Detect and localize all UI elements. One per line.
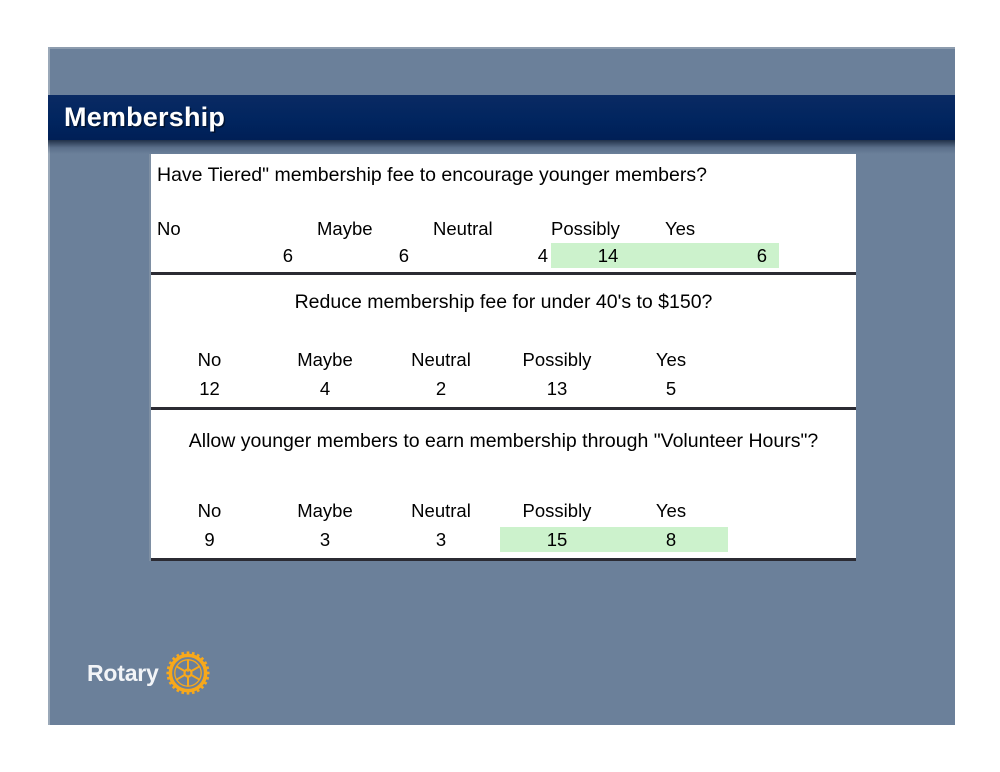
value-maybe: 4 <box>268 376 382 401</box>
value-possibly: 13 <box>500 376 614 401</box>
column-header-yes: Yes <box>665 216 779 241</box>
value-possibly: 14 <box>551 243 665 268</box>
column-header-possibly: Possibly <box>551 216 665 241</box>
survey-results-table: Have Tiered" membership fee to encourage… <box>149 154 856 561</box>
rotary-wheel-icon <box>166 651 210 695</box>
slide-top-edge <box>48 47 955 49</box>
survey-question: Allow younger members to earn membership… <box>151 428 856 488</box>
value-neutral: 4 <box>433 243 551 268</box>
presentation-slide: Membership Have Tiered" membership fee t… <box>48 47 955 725</box>
survey-question: Have Tiered" membership fee to encourage… <box>151 162 856 200</box>
rotary-logo: Rotary <box>87 650 210 696</box>
column-header-possibly: Possibly <box>500 347 614 372</box>
spacer-cell <box>207 216 317 241</box>
column-header-yes: Yes <box>614 347 728 372</box>
column-header-neutral: Neutral <box>382 498 500 523</box>
survey-value-row: 9 3 3 15 8 <box>151 523 856 558</box>
spacer-cell <box>779 243 858 268</box>
spacer-cell <box>728 527 858 552</box>
column-header-maybe: Maybe <box>268 347 382 372</box>
spacer-cell <box>728 498 858 523</box>
spacer-cell <box>728 376 858 401</box>
column-header-no: No <box>151 216 207 241</box>
value-no: 9 <box>151 527 268 552</box>
value-yes: 6 <box>665 243 779 268</box>
value-no: 12 <box>151 376 268 401</box>
survey-value-row: 6 6 4 14 6 <box>151 241 856 272</box>
spacer-cell <box>779 216 858 241</box>
column-header-yes: Yes <box>614 498 728 523</box>
spacer-cell <box>728 347 858 372</box>
page-title: Membership <box>64 102 225 133</box>
column-header-possibly: Possibly <box>500 498 614 523</box>
survey-value-row: 12 4 2 13 5 <box>151 372 856 407</box>
column-header-neutral: Neutral <box>382 347 500 372</box>
value-no: 6 <box>207 243 317 268</box>
value-yes: 5 <box>614 376 728 401</box>
rotary-wordmark: Rotary <box>87 660 159 687</box>
survey-section: Allow younger members to earn membership… <box>151 410 856 558</box>
value-yes: 8 <box>614 527 728 552</box>
column-header-maybe: Maybe <box>317 216 433 241</box>
survey-header-row: No Maybe Neutral Possibly Yes <box>151 200 856 241</box>
value-maybe: 3 <box>268 527 382 552</box>
survey-section: Reduce membership fee for under 40's to … <box>151 275 856 407</box>
column-header-no: No <box>151 498 268 523</box>
spacer-cell <box>151 243 207 268</box>
value-neutral: 3 <box>382 527 500 552</box>
slide-title-bar: Membership <box>48 95 955 140</box>
survey-question: Reduce membership fee for under 40's to … <box>151 289 856 341</box>
value-neutral: 2 <box>382 376 500 401</box>
table-bottom-border <box>151 558 856 561</box>
survey-header-row: No Maybe Neutral Possibly Yes <box>151 488 856 523</box>
column-header-neutral: Neutral <box>433 216 551 241</box>
title-bar-shadow <box>48 140 955 154</box>
value-possibly: 15 <box>500 527 614 552</box>
column-header-maybe: Maybe <box>268 498 382 523</box>
value-maybe: 6 <box>317 243 433 268</box>
survey-section: Have Tiered" membership fee to encourage… <box>151 154 856 272</box>
column-header-no: No <box>151 347 268 372</box>
survey-header-row: No Maybe Neutral Possibly Yes <box>151 341 856 372</box>
